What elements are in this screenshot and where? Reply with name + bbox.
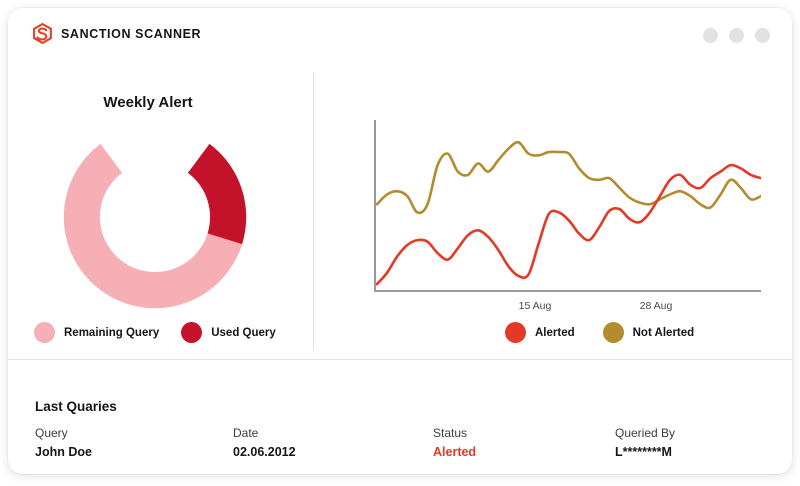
x-tick-label-1: 28 Aug bbox=[640, 300, 673, 312]
legend-swatch-alerted bbox=[505, 322, 526, 343]
legend-label-remaining-query: Remaining Query bbox=[64, 327, 159, 339]
column-value-date: 02.06.2012 bbox=[233, 445, 296, 459]
weekly-alert-donut-chart bbox=[60, 122, 250, 312]
hexagon-s-logo-icon bbox=[32, 23, 53, 44]
alert-trend-panel: 15 Aug 28 Aug Alerted Not Alerted bbox=[313, 60, 792, 359]
query-column-date: Date 02.06.2012 bbox=[233, 426, 296, 459]
legend-swatch-not-alerted bbox=[603, 322, 624, 343]
weekly-alert-legend: Remaining Query Used Query bbox=[34, 322, 276, 343]
line-chart-x-axis-labels: 15 Aug 28 Aug bbox=[371, 300, 761, 316]
legend-label-not-alerted: Not Alerted bbox=[633, 327, 695, 339]
column-value-query: John Doe bbox=[35, 445, 92, 459]
donut-slice-used-query[interactable] bbox=[188, 144, 246, 244]
app-window: SANCTION SCANNER Weekly Alert Remaining … bbox=[8, 8, 792, 474]
last-queries-title: Last Quaries bbox=[35, 399, 117, 414]
column-header-queried-by: Queried By bbox=[615, 426, 675, 440]
column-value-queried-by: L********M bbox=[615, 445, 675, 459]
column-header-query: Query bbox=[35, 426, 92, 440]
legend-item-remaining-query[interactable]: Remaining Query bbox=[34, 322, 159, 343]
query-column-query: Query John Doe bbox=[35, 426, 92, 459]
last-queries-section: Last Quaries Query John Doe Date 02.06.2… bbox=[8, 360, 792, 474]
app-header: SANCTION SCANNER bbox=[8, 8, 792, 60]
legend-item-alerted[interactable]: Alerted bbox=[505, 322, 575, 343]
column-header-status: Status bbox=[433, 426, 476, 440]
column-header-date: Date bbox=[233, 426, 296, 440]
query-column-status: Status Alerted bbox=[433, 426, 476, 459]
dashboard-panels: Weekly Alert Remaining Query Used Query bbox=[8, 60, 792, 359]
legend-label-used-query: Used Query bbox=[211, 327, 276, 339]
status-badge: Alerted bbox=[433, 445, 476, 459]
legend-item-used-query[interactable]: Used Query bbox=[181, 322, 276, 343]
alert-trend-line-chart bbox=[371, 120, 761, 295]
query-column-queried-by: Queried By L********M bbox=[615, 426, 675, 459]
weekly-alert-panel: Weekly Alert Remaining Query Used Query bbox=[8, 60, 313, 359]
brand-name: SANCTION SCANNER bbox=[61, 27, 201, 41]
window-dot-1[interactable] bbox=[703, 28, 718, 43]
window-dot-3[interactable] bbox=[755, 28, 770, 43]
line-series-not-alerted bbox=[377, 142, 761, 213]
alert-trend-legend: Alerted Not Alerted bbox=[505, 322, 694, 343]
legend-item-not-alerted[interactable]: Not Alerted bbox=[603, 322, 695, 343]
line-series-alerted bbox=[377, 165, 761, 284]
window-dot-2[interactable] bbox=[729, 28, 744, 43]
window-controls bbox=[703, 28, 770, 43]
legend-swatch-used-query bbox=[181, 322, 202, 343]
weekly-alert-title: Weekly Alert bbox=[8, 94, 288, 111]
x-tick-label-0: 15 Aug bbox=[519, 300, 552, 312]
legend-swatch-remaining-query bbox=[34, 322, 55, 343]
legend-label-alerted: Alerted bbox=[535, 327, 575, 339]
brand-logo[interactable]: SANCTION SCANNER bbox=[32, 23, 201, 44]
